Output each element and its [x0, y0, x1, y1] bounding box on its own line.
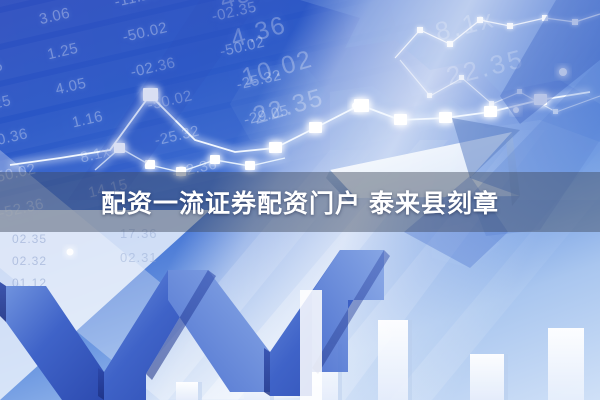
title-overlay-band: 配资一流证券配资门户 泰来县刻章: [0, 172, 600, 232]
ticker-value: -25.32: [153, 122, 201, 149]
page-title: 配资一流证券配资门户 泰来县刻章: [101, 184, 499, 220]
ticker-value: -4.05: [0, 57, 5, 82]
ghost-number-group-lower-left: 02.35 02.32 01.12: [12, 228, 47, 294]
ticker-value: 8.1x: [78, 143, 111, 166]
ghost-number-group-center: 45.02 4.36 10.02 22.35: [215, 0, 329, 136]
ticker-value: -11.25: [113, 0, 160, 10]
ticker-row: -50.36 1.16 -50.02 -25.32: [0, 18, 464, 164]
ticker-row: -1.25 4.05 -02.36 -50.02: [0, 0, 456, 130]
ghost-number-group-right: 8.1x 22.35: [430, 0, 530, 99]
ticker-value: -50.02: [146, 87, 194, 114]
ghost-number: 10.02: [237, 39, 318, 97]
series-glow-line-main: [10, 88, 590, 165]
ghost-number: 45.02: [215, 0, 296, 20]
stock-market-banner: -45.02 -02.35 -6.06 -50.35 -11.25 -7.05 …: [0, 0, 600, 400]
ghost-number: 8.1x: [430, 0, 519, 55]
ghost-number: 22.35: [248, 77, 329, 135]
ticker-value: -02.36: [129, 54, 177, 81]
series-glow-line-upper: [395, 14, 600, 58]
ghost-number: 4.36: [226, 0, 307, 58]
series-glow-line-right: [400, 60, 600, 114]
ticker-value: -29.05: [242, 101, 290, 128]
ticker-value: 1.16: [70, 107, 104, 131]
ghost-number: 22.35: [441, 35, 530, 99]
ticker-value: 3.06: [37, 4, 71, 28]
ticker-value: -50.02: [121, 19, 169, 46]
ticker-row: -6.06 -50.35 -11.25: [0, 0, 432, 24]
ticker-value: -02.35: [210, 0, 258, 25]
ticker-row: -7.05 3.06 -11.25 -45.02: [0, 0, 440, 59]
ticker-value: 1.25: [46, 39, 80, 63]
ticker-value: -1.25: [0, 92, 13, 117]
ghost-number: 02.31: [120, 246, 158, 270]
ghost-number: 02.32: [12, 250, 47, 272]
ticker-value: 4.05: [54, 74, 88, 98]
ticker-value: -50.36: [0, 125, 29, 152]
ticker-value: -50.02: [218, 33, 266, 60]
ghost-number: 01.12: [12, 272, 47, 294]
ticker-value: -25.32: [235, 66, 283, 93]
ticker-row: -4.05 1.25 -50.02 -02.35: [0, 0, 448, 94]
